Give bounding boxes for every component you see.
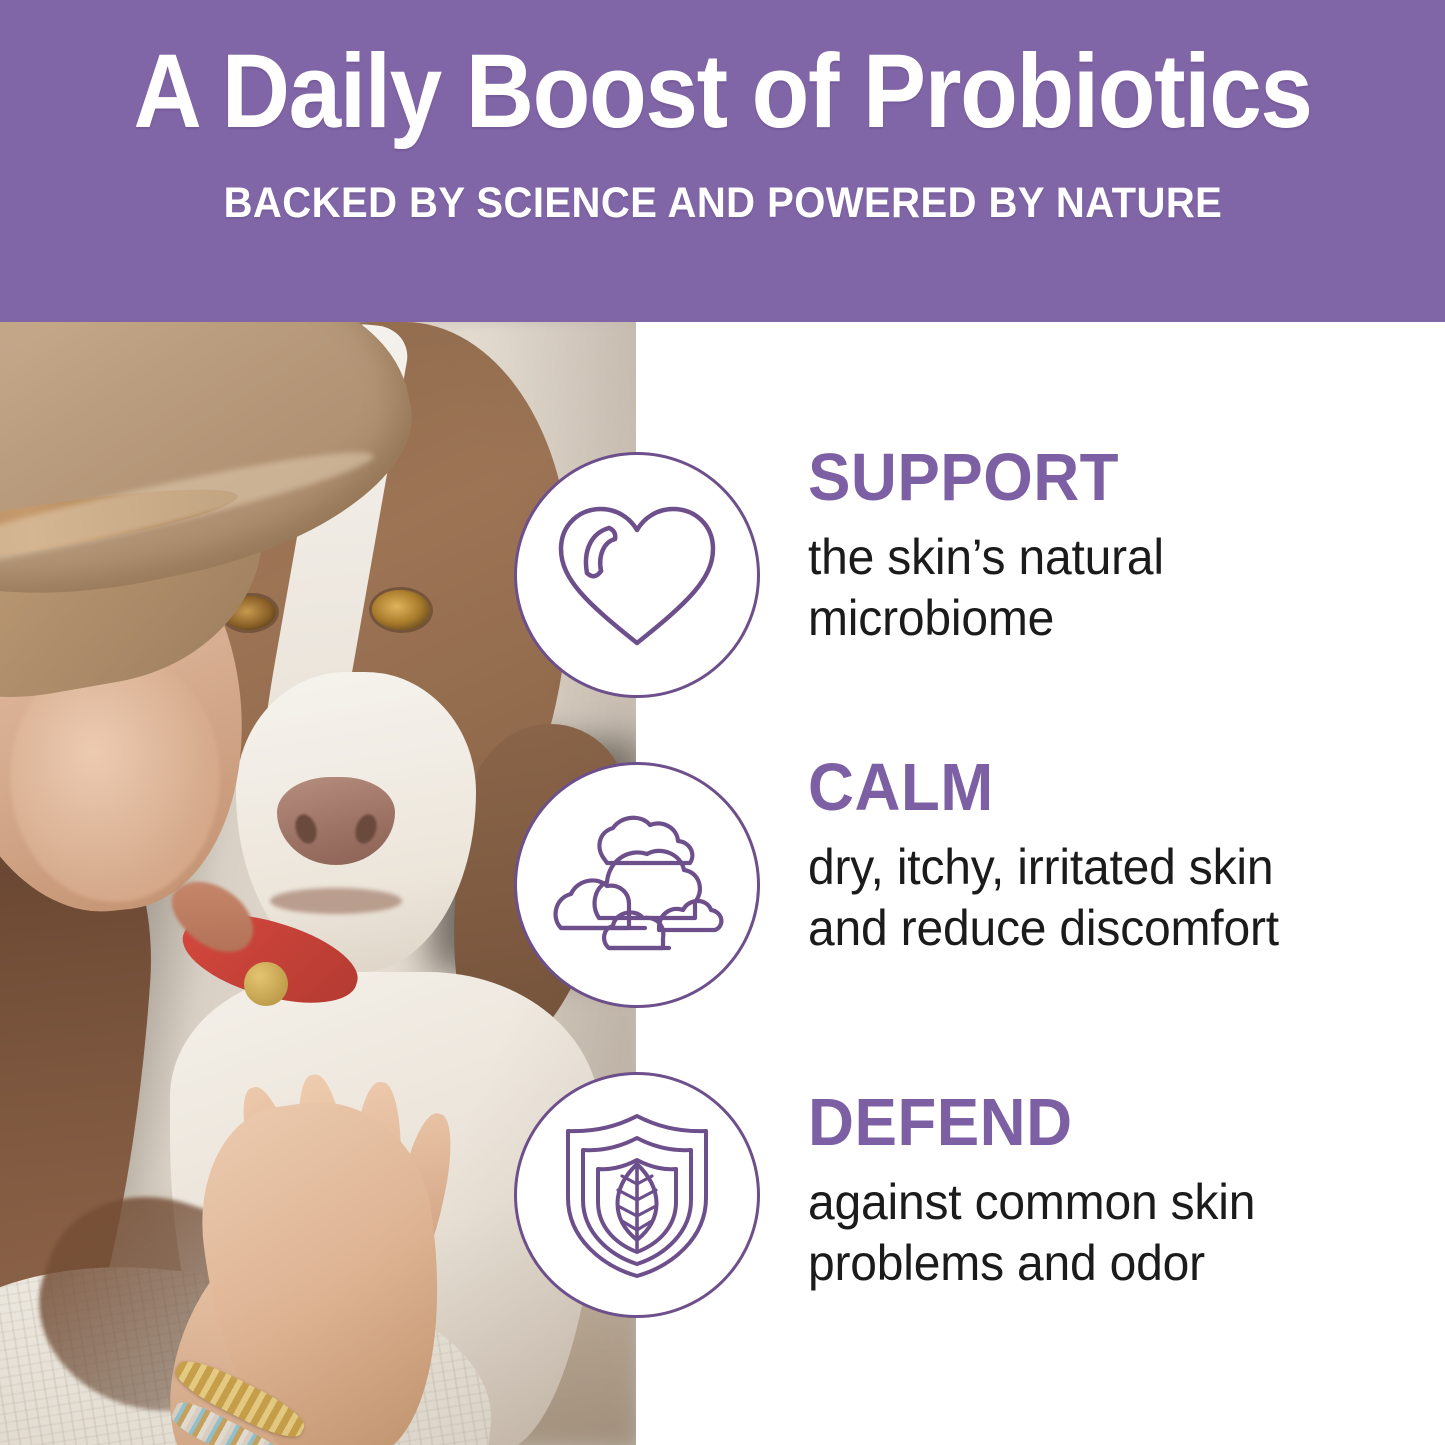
benefit-defend: DEFEND against common skin problems and … xyxy=(808,1088,1428,1294)
page-title: A Daily Boost of Probiotics xyxy=(133,38,1311,145)
benefit-icon-circle-calm xyxy=(514,762,760,1008)
benefit-body-line: dry, itchy, irritated skin xyxy=(808,837,1403,898)
benefit-body-line: problems and odor xyxy=(808,1233,1403,1294)
benefit-icon-circle-support xyxy=(514,452,760,698)
benefit-body-line: against common skin xyxy=(808,1172,1403,1233)
dog-mouth xyxy=(270,888,402,914)
benefit-support: SUPPORT the skin’s natural microbiome xyxy=(808,443,1428,649)
dog-collar-tag xyxy=(244,962,288,1006)
benefit-title-calm: CALM xyxy=(808,753,1397,823)
heart-icon xyxy=(547,495,727,655)
benefit-body-defend: against common skin problems and odor xyxy=(808,1172,1403,1294)
benefit-title-defend: DEFEND xyxy=(808,1088,1397,1158)
benefit-body-line: microbiome xyxy=(808,588,1403,649)
benefit-body-calm: dry, itchy, irritated skin and reduce di… xyxy=(808,837,1403,959)
benefit-body-line: the skin’s natural xyxy=(808,527,1403,588)
product-benefits-infographic: A Daily Boost of Probiotics BACKED BY SC… xyxy=(0,0,1445,1445)
page-subtitle: BACKED BY SCIENCE AND POWERED BY NATURE xyxy=(223,179,1222,228)
benefit-body-line: and reduce discomfort xyxy=(808,898,1403,959)
benefit-icon-circle-defend xyxy=(514,1072,760,1318)
benefit-calm: CALM dry, itchy, irritated skin and redu… xyxy=(808,753,1428,959)
benefit-body-support: the skin’s natural microbiome xyxy=(808,527,1403,649)
clouds-icon xyxy=(547,810,727,960)
header-banner: A Daily Boost of Probiotics BACKED BY SC… xyxy=(0,0,1445,322)
benefit-title-support: SUPPORT xyxy=(808,443,1397,513)
shield-leaf-icon xyxy=(552,1108,722,1283)
